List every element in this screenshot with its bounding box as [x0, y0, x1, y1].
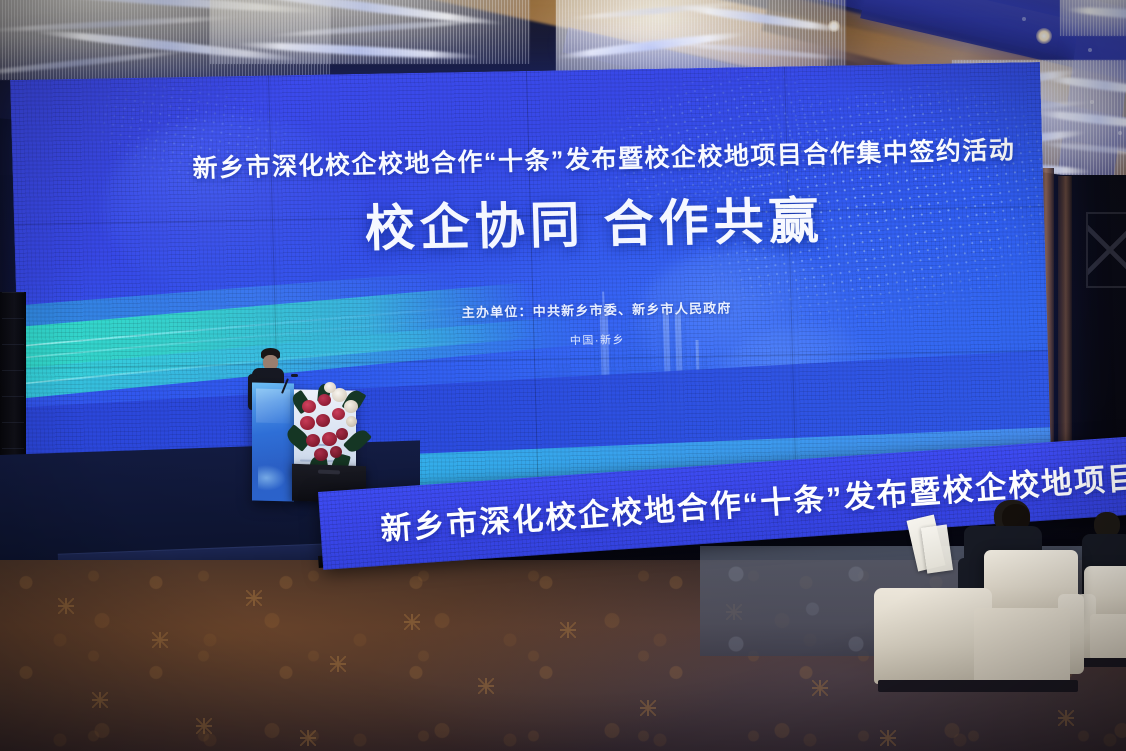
ceiling-spotlight	[1118, 131, 1122, 135]
led-screen-content: 新乡市深化校企校地合作“十条”发布暨校企校地项目合作集中签约活动 校企协同 合作…	[10, 62, 1052, 510]
location-line: 中国·新乡	[197, 325, 997, 355]
ceiling-spotlight	[1022, 17, 1026, 21]
event-title: 新乡市深化校企校地合作“十条”发布暨校企校地项目合作集中签约活动	[192, 131, 993, 185]
ceiling-spotlight	[1088, 48, 1092, 52]
crystal-wave-chandelier	[0, 0, 330, 80]
podium-microphone	[291, 374, 298, 377]
lighting-truss	[1086, 212, 1126, 288]
organizer-line: 主办单位：中共新乡市委、新乡市人民政府	[196, 293, 996, 326]
event-slogan: 校企协同 合作共赢	[193, 178, 995, 264]
cream-armchair	[874, 550, 1082, 710]
ceiling-spotlight	[1090, 100, 1094, 104]
led-stage-screen: 新乡市深化校企校地合作“十条”发布暨校企校地项目合作集中签约活动 校企协同 合作…	[10, 62, 1052, 510]
ceiling-spotlight	[828, 20, 840, 32]
conference-hall-photo: 新乡市深化校企校地合作“十条”发布暨校企校地项目合作集中签约活动 校企协同 合作…	[0, 0, 1126, 751]
ceiling-spotlight	[1036, 28, 1052, 44]
line-array-speaker	[0, 292, 26, 472]
